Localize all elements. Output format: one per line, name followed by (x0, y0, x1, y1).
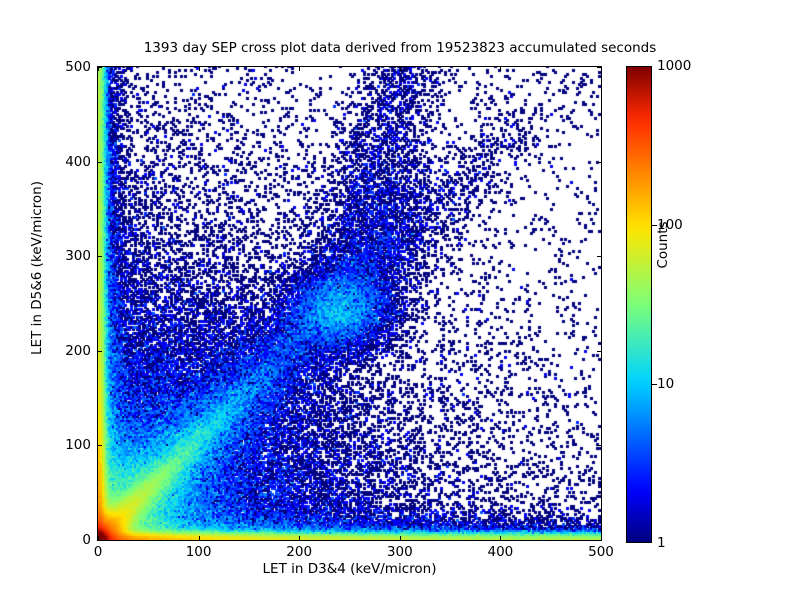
x-tick-label: 500 (588, 544, 614, 560)
y-tick-mark-right (597, 162, 601, 163)
title-line-1: 1393 day SEP cross plot data derived fro… (0, 40, 800, 57)
x-tick-mark (299, 536, 300, 540)
heatmap-layer (98, 67, 601, 540)
x-tick-mark-top (601, 67, 602, 71)
y-tick-label: 300 (45, 248, 91, 264)
y-tick-mark (98, 445, 102, 446)
y-tick-mark-right (597, 540, 601, 541)
y-tick-label: 0 (45, 532, 91, 548)
y-tick-mark (98, 67, 102, 68)
x-tick-mark-top (299, 67, 300, 71)
y-tick-mark-right (597, 67, 601, 68)
x-tick-mark (500, 536, 501, 540)
colorbar-label: Counts (655, 185, 671, 305)
x-tick-mark-top (199, 67, 200, 71)
x-tick-label: 100 (186, 544, 212, 560)
x-axis-label: LET in D3&4 (keV/micron) (97, 561, 602, 577)
x-tick-label: 400 (488, 544, 514, 560)
x-tick-mark (199, 536, 200, 540)
y-tick-mark-right (597, 445, 601, 446)
colorbar-tick-label: 1 (657, 535, 666, 551)
y-tick-mark-right (597, 256, 601, 257)
y-axis-label: LET in D5&6 (keV/micron) (29, 168, 45, 368)
plot-axes[interactable] (97, 66, 602, 541)
x-tick-mark (601, 536, 602, 540)
y-tick-label: 100 (45, 437, 91, 453)
figure-canvas: 1393 day SEP cross plot data derived fro… (0, 0, 800, 600)
y-tick-label: 400 (45, 154, 91, 170)
y-tick-mark (98, 351, 102, 352)
colorbar-tick-label: 10 (657, 376, 674, 392)
y-tick-mark-right (597, 351, 601, 352)
y-tick-label: 500 (45, 59, 91, 75)
colorbar[interactable] (626, 66, 652, 543)
colorbar-tick-label: 1000 (657, 58, 691, 74)
x-tick-mark-top (400, 67, 401, 71)
y-tick-mark (98, 540, 102, 541)
y-tick-mark (98, 256, 102, 257)
x-tick-label: 0 (94, 544, 103, 560)
x-tick-label: 200 (286, 544, 312, 560)
x-tick-mark (400, 536, 401, 540)
x-tick-label: 300 (387, 544, 413, 560)
colorbar-gradient (627, 67, 651, 542)
y-tick-label: 200 (45, 343, 91, 359)
x-tick-mark-top (500, 67, 501, 71)
y-tick-mark (98, 162, 102, 163)
